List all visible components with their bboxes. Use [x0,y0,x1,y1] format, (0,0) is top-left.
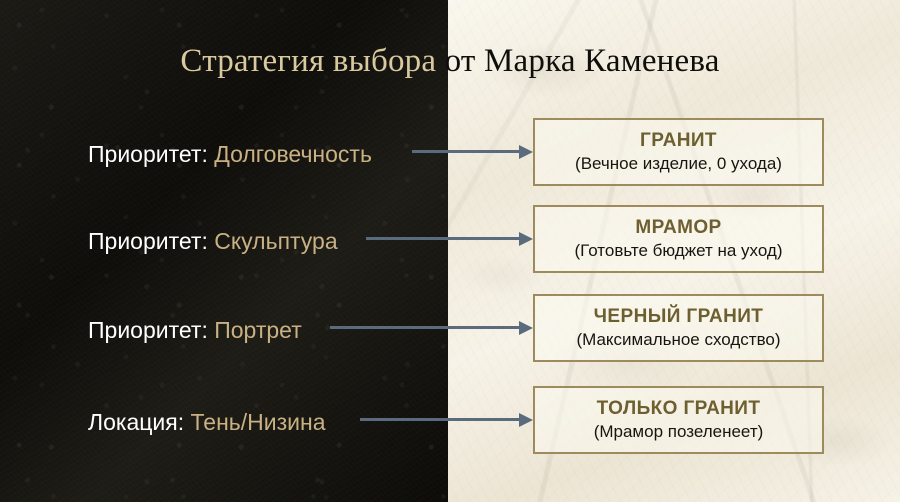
arrow-right-icon-3 [330,321,533,335]
result-subtitle-3: (Максимальное сходство) [576,329,780,351]
result-title-4: ТОЛЬКО ГРАНИТ [597,398,761,420]
result-subtitle-4: (Мрамор позеленеет) [594,421,764,443]
criterion-label-1: Приоритет: [88,141,208,167]
result-subtitle-1: (Вечное изделие, 0 ухода) [575,153,782,175]
arrow-shaft-2 [366,237,520,240]
criterion-label-3: Приоритет: [88,317,208,343]
criterion-label-2: Приоритет: [88,228,208,254]
arrow-head-1 [519,145,533,159]
page-title-gold-part: Стратегия выбора [180,43,444,79]
arrow-right-icon-1 [412,145,533,159]
arrow-head-2 [519,232,533,246]
criterion-value-4: Тень/Низина [184,409,325,435]
result-title-3: ЧЕРНЫЙ ГРАНИТ [594,306,764,328]
result-title-2: МРАМОР [635,217,721,239]
arrow-head-4 [519,413,533,427]
arrow-right-icon-2 [366,232,533,246]
criterion-value-1: Долговечность [208,141,372,167]
result-box-3[interactable]: ЧЕРНЫЙ ГРАНИТ (Максимальное сходство) [533,294,824,362]
page-title: Стратегия выбора от Марка Каменева [0,41,900,81]
result-subtitle-2: (Готовьте бюджет на уход) [574,240,782,262]
criterion-value-3: Портрет [208,317,302,343]
result-title-1: ГРАНИТ [640,130,717,152]
criterion-row-2: Приоритет: Скульптура [88,227,338,255]
page-title-dark-part: от Марка Каменева [445,43,720,79]
criterion-label-4: Локация: [88,409,184,435]
arrow-shaft-4 [360,418,520,421]
criterion-value-2: Скульптура [208,228,338,254]
result-box-1[interactable]: ГРАНИТ (Вечное изделие, 0 ухода) [533,118,824,186]
arrow-shaft-1 [412,150,520,153]
criterion-row-3: Приоритет: Портрет [88,316,302,344]
result-box-2[interactable]: МРАМОР (Готовьте бюджет на уход) [533,205,824,273]
arrow-right-icon-4 [360,413,533,427]
slide-canvas: Стратегия выбора от Марка Каменева Приор… [0,0,900,502]
arrow-head-3 [519,321,533,335]
criterion-row-4: Локация: Тень/Низина [88,408,325,436]
arrow-shaft-3 [330,326,520,329]
criterion-row-1: Приоритет: Долговечность [88,140,372,168]
result-box-4[interactable]: ТОЛЬКО ГРАНИТ (Мрамор позеленеет) [533,386,824,454]
